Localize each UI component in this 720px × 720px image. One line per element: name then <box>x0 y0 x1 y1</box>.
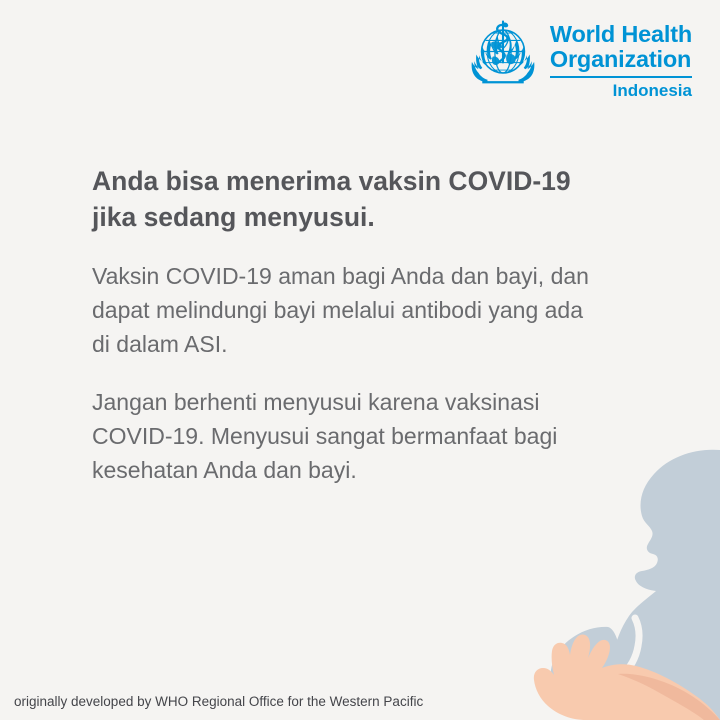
poster-canvas: World Health Organization Indonesia <box>0 0 720 720</box>
who-emblem-icon <box>466 16 540 90</box>
page-title: Anda bisa menerima vaksin COVID-19 jika … <box>92 163 597 235</box>
who-wordmark-line2: Organization <box>550 47 692 72</box>
who-country-label: Indonesia <box>550 81 692 100</box>
message-block: Anda bisa menerima vaksin COVID-19 jika … <box>92 163 612 487</box>
footer: originally developed by WHO Regional Off… <box>14 693 423 711</box>
who-logo-lockup: World Health Organization Indonesia <box>466 16 692 100</box>
who-wordmark-divider <box>550 76 692 78</box>
footer-credit: originally developed by WHO Regional Off… <box>14 693 423 711</box>
body-paragraph-1: Vaksin COVID-19 aman bagi Anda dan bayi,… <box>92 259 604 361</box>
body-paragraph-2: Jangan berhenti menyusui karena vaksinas… <box>92 385 604 487</box>
who-wordmark: World Health Organization Indonesia <box>550 16 692 100</box>
who-wordmark-line1: World Health <box>550 22 692 47</box>
